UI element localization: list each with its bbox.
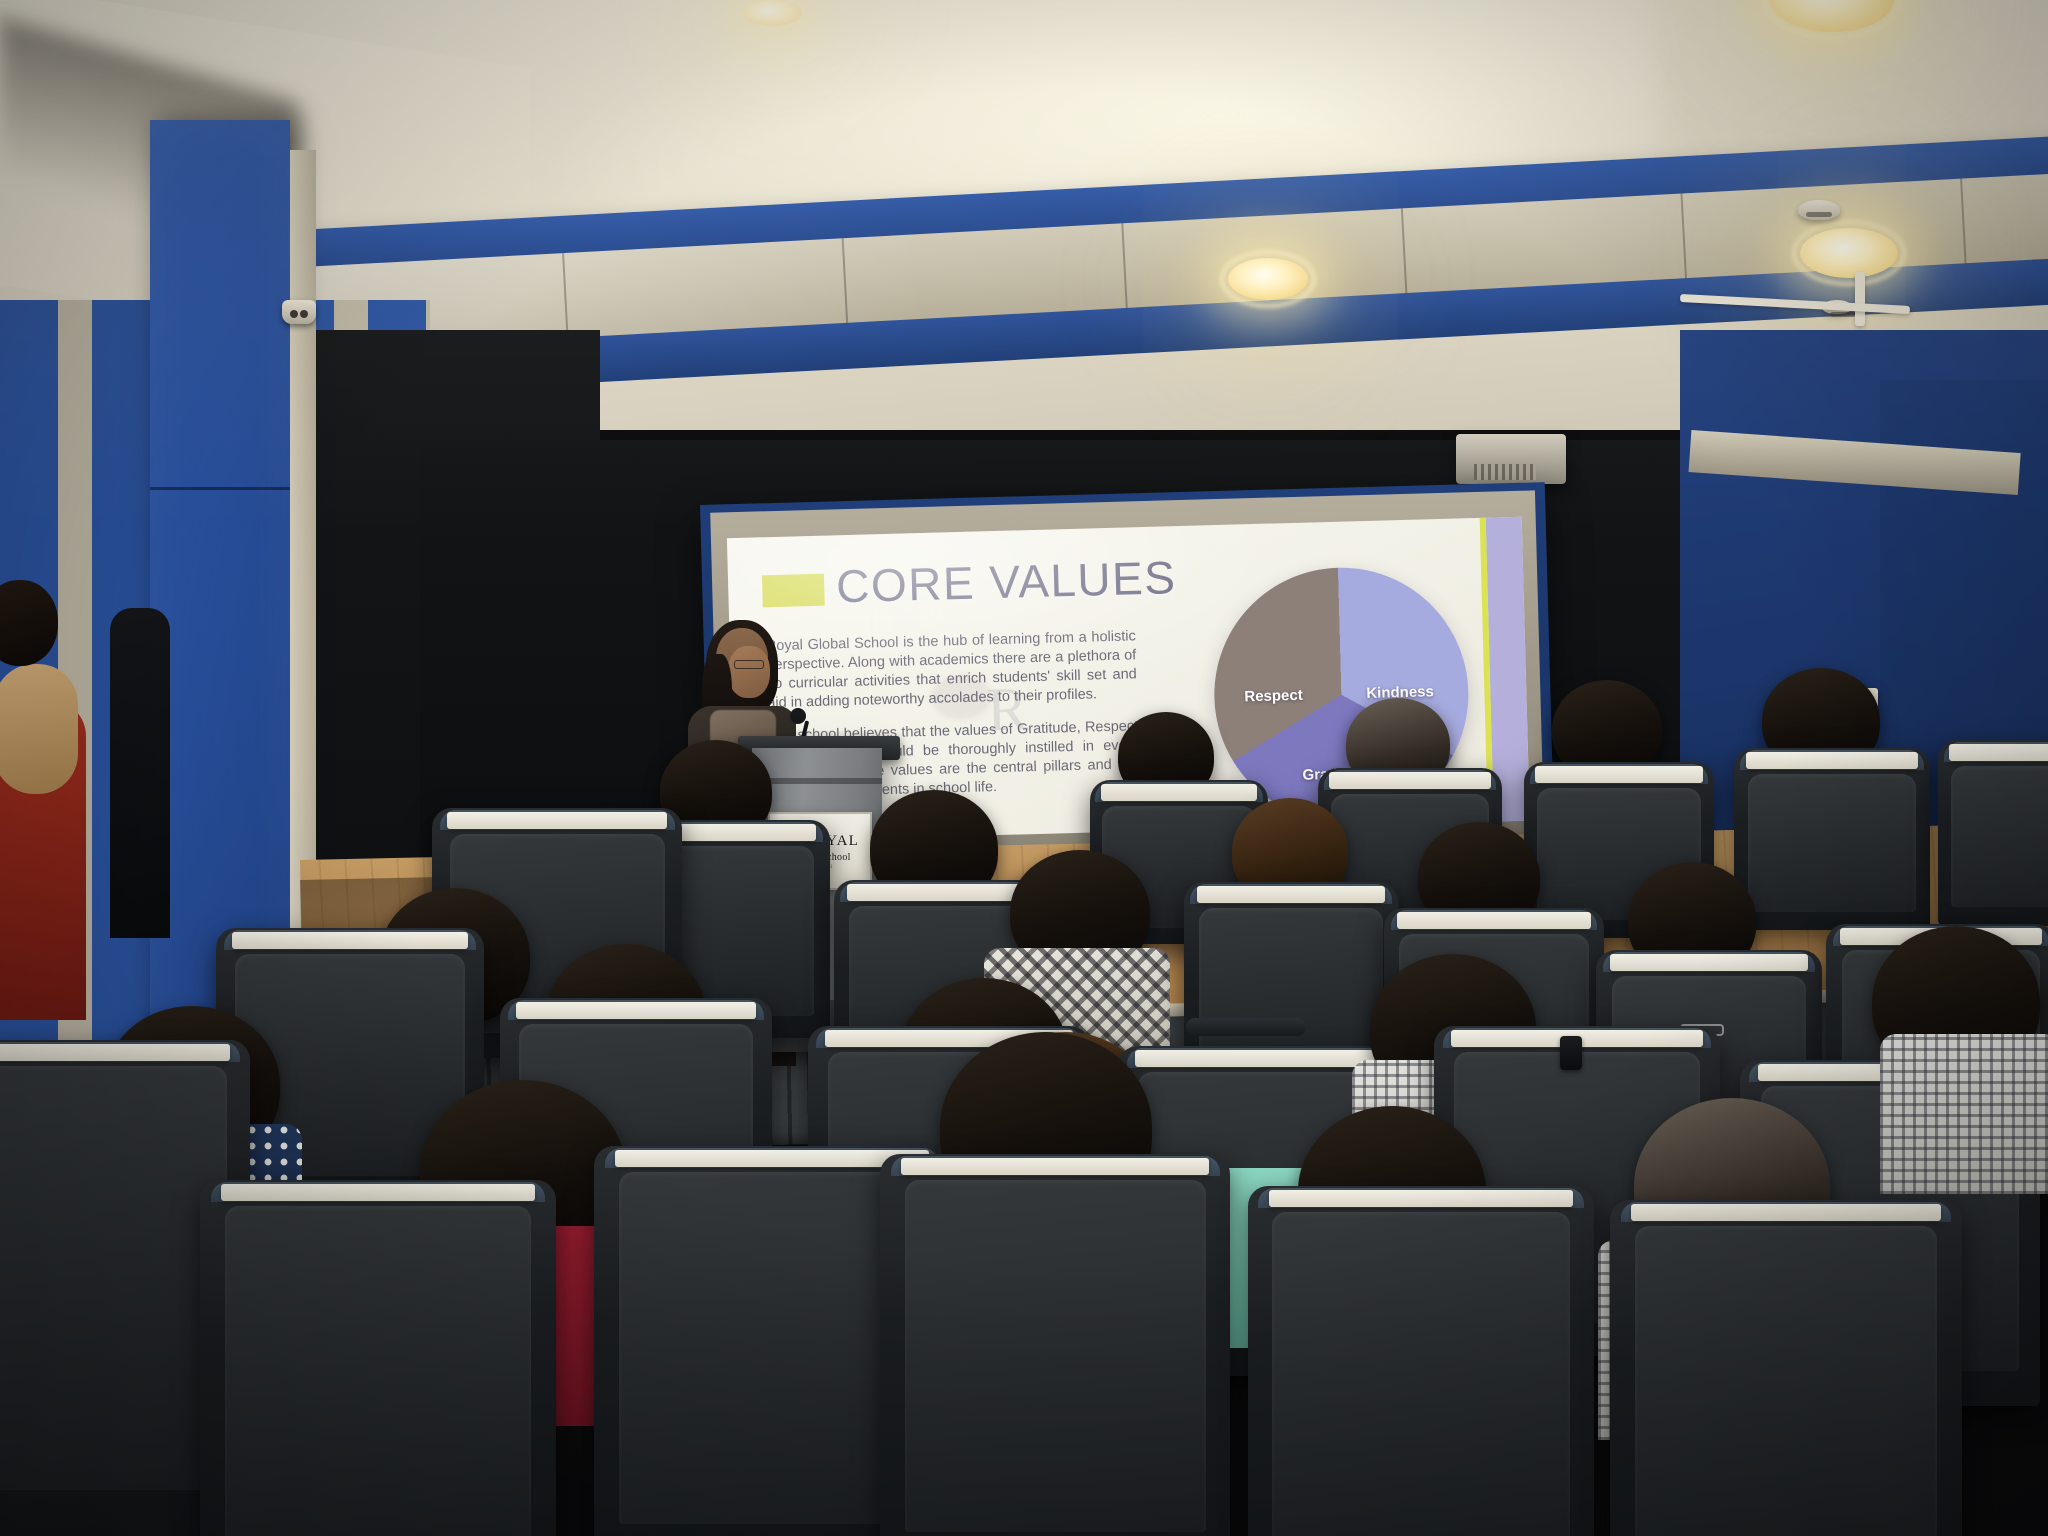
speaker-face <box>728 646 770 698</box>
seat <box>1610 1200 1962 1536</box>
speaker-glasses <box>734 660 764 669</box>
ceiling-light-1 <box>1770 0 1894 32</box>
slide-paragraph-1: Royal Global School is the hub of learni… <box>766 627 1138 713</box>
audience-seating <box>0 940 2048 1536</box>
standing-person-dark-suit <box>110 608 170 938</box>
ceiling-light-2 <box>1800 228 1898 278</box>
ceiling-conduit <box>1855 272 1865 326</box>
cctv-camera <box>282 300 316 324</box>
slide-title-chip-icon <box>762 574 825 608</box>
smoke-detector-1 <box>1798 200 1840 220</box>
auditorium-photo: CORE VALUES R Royal Global School is the… <box>0 0 2048 1536</box>
ceiling-light-4 <box>742 0 802 26</box>
microphone-head-icon <box>790 708 806 724</box>
seat <box>880 1154 1230 1536</box>
podium-band <box>752 778 882 784</box>
seat <box>1248 1186 1594 1536</box>
mobile-phone <box>1560 1036 1582 1070</box>
ceiling-projector <box>1456 434 1566 484</box>
pie-label-respect: Respect <box>1244 687 1303 706</box>
ceiling-light-3 <box>1228 258 1308 300</box>
slide-title: CORE VALUES <box>836 550 1178 613</box>
seat <box>1734 748 1930 930</box>
seat <box>200 1180 556 1536</box>
audience-clothing <box>1880 1034 2048 1194</box>
seat <box>1938 740 2048 926</box>
standing-person-left-shawl <box>0 664 78 794</box>
seat-armrest <box>1186 1018 1306 1036</box>
